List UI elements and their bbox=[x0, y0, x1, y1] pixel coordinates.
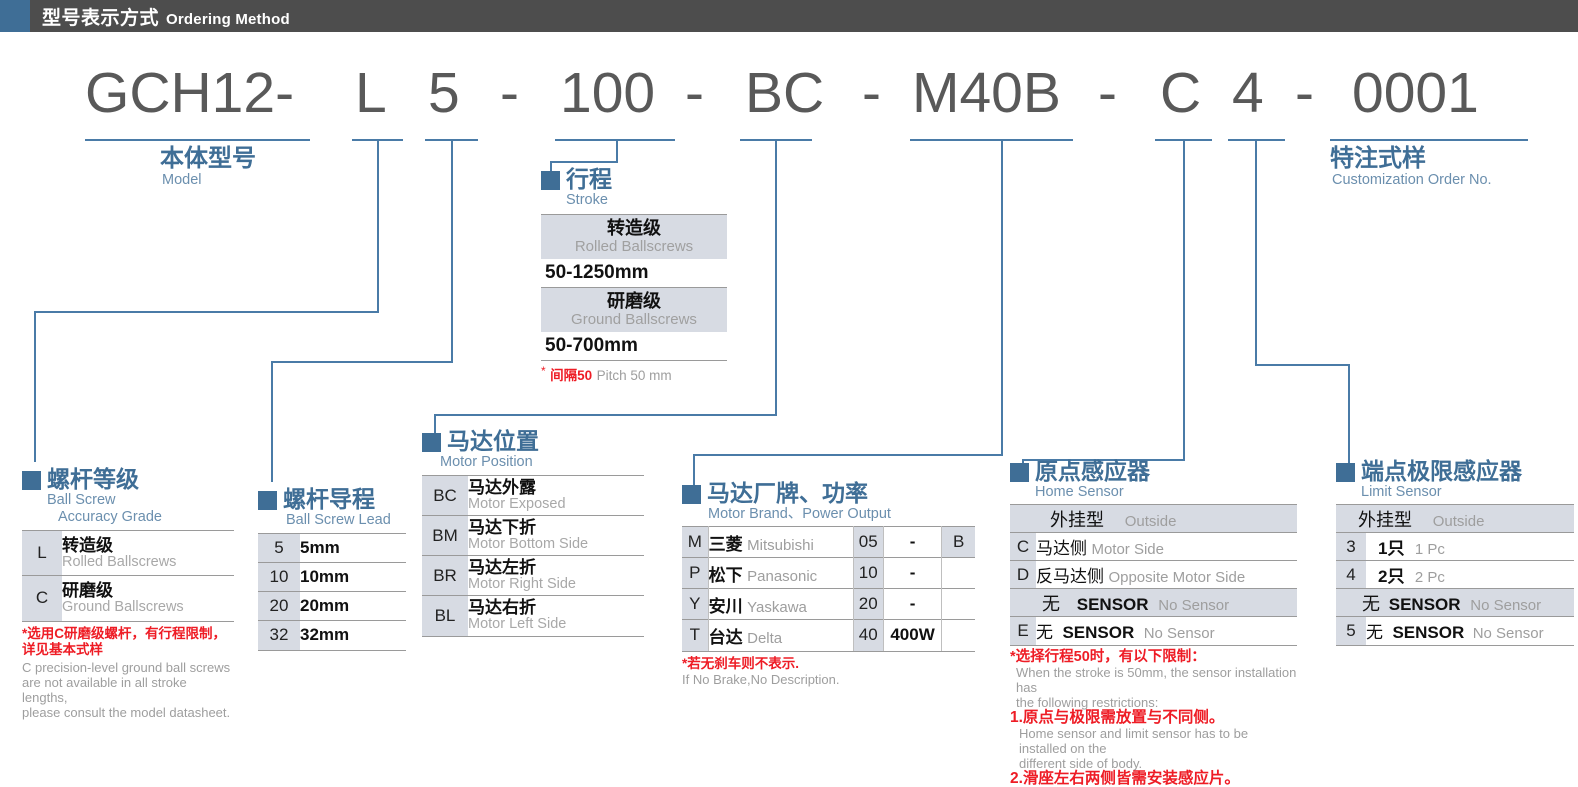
code-dash-5: - bbox=[1295, 58, 1314, 128]
section-stroke-head: 行程 bbox=[541, 166, 729, 192]
home-sensor-note-title: *选择行程50时，有以下限制： bbox=[1010, 649, 1297, 665]
home-sensor-val-e: 无 SENSOR No Sensor bbox=[1036, 617, 1297, 645]
code-lead: 5 bbox=[428, 58, 460, 128]
accuracy-note-gray-3: please consult the model datasheet. bbox=[22, 705, 234, 720]
table-row: 5 无 SENSOR No Sensor bbox=[1336, 617, 1574, 645]
accuracy-note-red-1: *选用C研磨级螺杆，有行程限制， bbox=[22, 626, 234, 642]
home-sensor-val-c: 马达侧 Motor Side bbox=[1036, 533, 1297, 561]
accuracy-val-c-cn: 研磨级 bbox=[62, 582, 234, 599]
limit-sensor-val-5: 无 SENSOR No Sensor bbox=[1366, 617, 1574, 645]
limit-sensor-val-4-cn: 2只 bbox=[1378, 567, 1404, 586]
power-val-05: - bbox=[883, 527, 941, 558]
home-sensor-note-gray-1b: the following restrictions: bbox=[1010, 695, 1297, 710]
motor-brand-note-red: *若无刹车则不表示. bbox=[682, 656, 975, 672]
leader-motor-brand bbox=[694, 140, 1002, 490]
home-sensor-val-e-cn: 无 bbox=[1036, 623, 1053, 642]
lead-table-bottom-rule bbox=[258, 650, 406, 651]
home-sensor-val-d: 反马达侧 Opposite Motor Side bbox=[1036, 561, 1297, 589]
section-limit-sensor: 端点极限感应器 Limit Sensor 外挂型 Outside 3 1只 1 … bbox=[1336, 458, 1578, 646]
limit-sensor-table: 外挂型 Outside 3 1只 1 Pc 4 2只 2 Pc 无 SENSOR… bbox=[1336, 504, 1574, 645]
section-stroke-title-cn: 行程 bbox=[566, 166, 612, 192]
section-ball-screw-lead: 螺杆导程 Ball Screw Lead 5 5mm 10 10mm 20 20… bbox=[258, 486, 418, 651]
section-limit-sensor-head: 端点极限感应器 bbox=[1336, 458, 1578, 484]
motor-position-val-bm: 马达下折 Motor Bottom Side bbox=[468, 516, 644, 556]
power-code-05: 05 bbox=[853, 527, 883, 558]
code-custom: 0001 bbox=[1352, 58, 1479, 128]
accuracy-key-l: L bbox=[22, 531, 62, 576]
home-sensor-key-e: E bbox=[1010, 617, 1036, 645]
power-val-40: 400W bbox=[883, 620, 941, 651]
brand-name-y-en: Yaskawa bbox=[747, 599, 807, 616]
home-sensor-band-2-bold: SENSOR bbox=[1077, 595, 1149, 614]
lead-val-5: 5mm bbox=[300, 534, 406, 563]
power-val-10: - bbox=[883, 558, 941, 589]
limit-sensor-val-5-cn: 无 bbox=[1366, 623, 1383, 642]
table-row: 3 1只 1 Pc bbox=[1336, 533, 1574, 561]
stroke-value-rolled: 50-1250mm bbox=[541, 259, 727, 287]
section-custom-title-cn: 特注式样 bbox=[1330, 146, 1492, 172]
home-sensor-band-1-en: Outside bbox=[1125, 513, 1177, 530]
home-sensor-band-2-cn: 无 bbox=[1042, 594, 1060, 614]
code-dash-4: - bbox=[1098, 58, 1117, 128]
section-limit-sensor-title-cn: 端点极限感应器 bbox=[1361, 458, 1522, 484]
stroke-band-ground-cn: 研磨级 bbox=[551, 291, 717, 311]
code-motor-brand: M40B bbox=[912, 58, 1061, 128]
section-accuracy-title-cn: 螺杆等级 bbox=[47, 466, 139, 492]
limit-sensor-band-2: 无 SENSOR No Sensor bbox=[1336, 589, 1574, 617]
motor-position-key-bm: BM bbox=[422, 516, 468, 556]
table-row: BM 马达下折 Motor Bottom Side bbox=[422, 516, 644, 556]
limit-sensor-band-1-cn: 外挂型 bbox=[1358, 510, 1412, 530]
limit-sensor-band-outside: 外挂型 Outside bbox=[1336, 505, 1574, 533]
home-sensor-val-d-en: Opposite Motor Side bbox=[1108, 569, 1245, 586]
home-sensor-val-e-bold: SENSOR bbox=[1062, 623, 1134, 642]
limit-sensor-key-3: 3 bbox=[1336, 533, 1366, 561]
motor-position-key-bc: BC bbox=[422, 476, 468, 516]
power-code-10: 10 bbox=[853, 558, 883, 589]
home-sensor-val-c-en: Motor Side bbox=[1091, 541, 1164, 558]
section-motor-brand-title-cn: 马达厂牌、功率 bbox=[707, 480, 868, 506]
motor-brand-note-gray: If No Brake,No Description. bbox=[682, 672, 975, 687]
table-row: BC 马达外露 Motor Exposed bbox=[422, 476, 644, 516]
table-row: 10 10mm bbox=[258, 563, 406, 592]
table-row: 20 20mm bbox=[258, 592, 406, 621]
power-val-20: - bbox=[883, 589, 941, 620]
brand-key-t: T bbox=[682, 620, 708, 651]
brand-name-p-en: Panasonic bbox=[747, 568, 817, 585]
brake-code-b: B bbox=[942, 527, 975, 558]
brand-key-p: P bbox=[682, 558, 708, 589]
motor-position-val-bl: 马达右折 Motor Left Side bbox=[468, 596, 644, 636]
brake-cell-empty-1 bbox=[942, 558, 975, 589]
table-row: BR 马达左折 Motor Right Side bbox=[422, 556, 644, 596]
accuracy-val-l: 转造级 Rolled Ballscrews bbox=[62, 531, 234, 576]
stroke-band-ground-en: Ground Ballscrews bbox=[551, 311, 717, 328]
home-sensor-band-2: 无 SENSOR No Sensor bbox=[1010, 589, 1297, 617]
limit-sensor-val-5-bold: SENSOR bbox=[1392, 623, 1464, 642]
motor-position-val-bc-en: Motor Exposed bbox=[468, 496, 644, 512]
limit-sensor-band-no-sensor: 无 SENSOR No Sensor bbox=[1336, 589, 1574, 617]
motor-position-val-br-cn: 马达左折 bbox=[468, 559, 644, 576]
section-motor-brand-title-en: Motor Brand、Power Output bbox=[682, 506, 982, 523]
stroke-band-rolled-en: Rolled Ballscrews bbox=[551, 238, 717, 255]
accuracy-key-c: C bbox=[22, 576, 62, 621]
brand-name-m-cn: 三菱 bbox=[709, 535, 743, 554]
home-sensor-band-no-sensor: 无 SENSOR No Sensor bbox=[1010, 589, 1297, 617]
accuracy-notes: *选用C研磨级螺杆，有行程限制， 详见基本式样 C precision-leve… bbox=[22, 621, 234, 720]
brake-cell-empty-2 bbox=[942, 589, 975, 620]
motor-position-val-bm-cn: 马达下折 bbox=[468, 519, 644, 536]
table-row: E 无 SENSOR No Sensor bbox=[1010, 617, 1297, 645]
motor-position-val-br: 马达左折 Motor Right Side bbox=[468, 556, 644, 596]
bullet-square-icon bbox=[258, 491, 277, 510]
home-sensor-note-gray-2b: different side of body. bbox=[1010, 756, 1297, 771]
section-accuracy-title-en1: Ball Screw bbox=[22, 492, 262, 509]
limit-sensor-band-2-bold: SENSOR bbox=[1389, 595, 1461, 614]
home-sensor-band-2-en: No Sensor bbox=[1158, 597, 1229, 614]
section-motor-brand: 马达厂牌、功率 Motor Brand、Power Output M 三菱 Mi… bbox=[682, 480, 982, 687]
motor-position-val-bl-cn: 马达右折 bbox=[468, 599, 644, 616]
power-code-40: 40 bbox=[853, 620, 883, 651]
home-sensor-key-c: C bbox=[1010, 533, 1036, 561]
section-motor-position-head: 马达位置 bbox=[422, 428, 662, 454]
motor-position-key-bl: BL bbox=[422, 596, 468, 636]
home-sensor-key-d: D bbox=[1010, 561, 1036, 589]
table-row: P 松下 Panasonic 10 - bbox=[682, 558, 975, 589]
code-home-sensor: C bbox=[1160, 58, 1201, 128]
limit-sensor-key-4: 4 bbox=[1336, 561, 1366, 589]
section-home-sensor-head: 原点感应器 bbox=[1010, 458, 1302, 484]
code-grade: L bbox=[355, 58, 387, 128]
lead-val-20: 20mm bbox=[300, 592, 406, 621]
home-sensor-note-red-1: 1.原点与极限需放置与不同侧。 bbox=[1010, 710, 1297, 726]
accuracy-val-l-en: Rolled Ballscrews bbox=[62, 554, 234, 570]
section-custom-title-en: Customization Order No. bbox=[1330, 172, 1492, 189]
home-sensor-note-gray-1a: When the stroke is 50mm, the sensor inst… bbox=[1010, 665, 1297, 695]
section-motor-brand-head: 马达厂牌、功率 bbox=[682, 480, 982, 506]
header-accent-tab bbox=[0, 0, 30, 32]
section-lead-head: 螺杆导程 bbox=[258, 486, 418, 512]
limit-sensor-val-3: 1只 1 Pc bbox=[1366, 533, 1574, 561]
brand-name-t-cn: 台达 bbox=[709, 628, 743, 647]
table-row: 32 32mm bbox=[258, 621, 406, 650]
brand-key-y: Y bbox=[682, 589, 708, 620]
brand-name-m-en: Mitsubishi bbox=[747, 537, 814, 554]
section-limit-sensor-title-en: Limit Sensor bbox=[1336, 484, 1578, 501]
limit-sensor-val-3-cn: 1只 bbox=[1378, 539, 1404, 558]
brand-name-p: 松下 Panasonic bbox=[708, 558, 853, 589]
motor-position-val-bc: 马达外露 Motor Exposed bbox=[468, 476, 644, 516]
table-row: Y 安川 Yaskawa 20 - bbox=[682, 589, 975, 620]
page-title-en: Ordering Method bbox=[166, 11, 290, 28]
home-sensor-notes: *选择行程50时，有以下限制： When the stroke is 50mm,… bbox=[1010, 645, 1297, 787]
section-accuracy-grade: 螺杆等级 Ball Screw Accuracy Grade L 转造级 Rol… bbox=[22, 466, 262, 720]
lead-key-10: 10 bbox=[258, 563, 300, 592]
code-limit-sensor: 4 bbox=[1232, 58, 1264, 128]
brand-name-y-cn: 安川 bbox=[709, 597, 743, 616]
table-row: L 转造级 Rolled Ballscrews bbox=[22, 531, 234, 576]
section-motor-position: 马达位置 Motor Position BC 马达外露 Motor Expose… bbox=[422, 428, 662, 637]
brake-cell-empty-3 bbox=[942, 620, 975, 651]
section-model-title-en: Model bbox=[160, 172, 256, 189]
stroke-band-rolled: 转造级 Rolled Ballscrews bbox=[541, 214, 727, 259]
leader-limit-sensor bbox=[1256, 140, 1349, 468]
lead-key-32: 32 bbox=[258, 621, 300, 650]
bullet-square-icon bbox=[22, 471, 41, 490]
lead-table: 5 5mm 10 10mm 20 20mm 32 32mm bbox=[258, 533, 406, 650]
bullet-square-icon bbox=[541, 171, 560, 190]
brand-name-m: 三菱 Mitsubishi bbox=[708, 527, 853, 558]
section-customization: 特注式样 Customization Order No. bbox=[1330, 146, 1492, 189]
limit-sensor-val-4: 2只 2 Pc bbox=[1366, 561, 1574, 589]
code-dash-2: - bbox=[685, 58, 704, 128]
accuracy-table: L 转造级 Rolled Ballscrews C 研磨级 Ground Bal… bbox=[22, 530, 234, 621]
home-sensor-table: 外挂型 Outside C 马达侧 Motor Side D 反马达侧 Oppo… bbox=[1010, 504, 1297, 645]
motor-brand-notes: *若无刹车则不表示. If No Brake,No Description. bbox=[682, 651, 975, 687]
accuracy-val-c-en: Ground Ballscrews bbox=[62, 599, 234, 615]
home-sensor-note-gray-2a: Home sensor and limit sensor has to be i… bbox=[1010, 726, 1297, 756]
motor-position-val-bc-cn: 马达外露 bbox=[468, 479, 644, 496]
table-row: D 反马达侧 Opposite Motor Side bbox=[1010, 561, 1297, 589]
section-accuracy-title-en2: Accuracy Grade bbox=[22, 509, 262, 526]
brand-name-p-cn: 松下 bbox=[709, 566, 743, 585]
limit-sensor-val-4-en: 2 Pc bbox=[1415, 569, 1445, 586]
section-lead-title-cn: 螺杆导程 bbox=[283, 486, 375, 512]
motor-position-bottom-rule bbox=[422, 636, 644, 637]
table-row: T 台达 Delta 40 400W bbox=[682, 620, 975, 651]
model-code-line: GCH12- L 5 - 100 - BC - M40B - C 4 - 000… bbox=[0, 58, 1578, 128]
section-lead-title-en: Ball Screw Lead bbox=[258, 512, 418, 529]
brand-name-t: 台达 Delta bbox=[708, 620, 853, 651]
section-accuracy-head: 螺杆等级 bbox=[22, 466, 262, 492]
lead-key-5: 5 bbox=[258, 534, 300, 563]
accuracy-note-gray-2: are not available in all stroke lengths, bbox=[22, 675, 234, 705]
home-sensor-val-e-en: No Sensor bbox=[1144, 625, 1215, 642]
code-dash-1: - bbox=[500, 58, 519, 128]
lead-val-32: 32mm bbox=[300, 621, 406, 650]
table-row: 4 2只 2 Pc bbox=[1336, 561, 1574, 589]
stroke-band-ground: 研磨级 Ground Ballscrews bbox=[541, 287, 727, 332]
lead-key-20: 20 bbox=[258, 592, 300, 621]
section-model-title-cn: 本体型号 bbox=[160, 146, 256, 172]
bullet-square-icon bbox=[1010, 463, 1029, 482]
table-row: BL 马达右折 Motor Left Side bbox=[422, 596, 644, 636]
brand-name-t-en: Delta bbox=[747, 630, 782, 647]
code-model: GCH12- bbox=[85, 58, 294, 128]
section-home-sensor: 原点感应器 Home Sensor 外挂型 Outside C 马达侧 Moto… bbox=[1010, 458, 1302, 787]
accuracy-val-c: 研磨级 Ground Ballscrews bbox=[62, 576, 234, 621]
brand-name-y: 安川 Yaskawa bbox=[708, 589, 853, 620]
stroke-note-star: * bbox=[541, 364, 546, 378]
limit-sensor-val-3-en: 1 Pc bbox=[1415, 541, 1445, 558]
accuracy-note-gray-1: C precision-level ground ball screws bbox=[22, 660, 234, 675]
home-sensor-band-outside: 外挂型 Outside bbox=[1010, 505, 1297, 533]
bullet-square-icon bbox=[1336, 463, 1355, 482]
section-model: 本体型号 Model bbox=[160, 146, 256, 189]
code-dash-3: - bbox=[862, 58, 881, 128]
motor-position-table: BC 马达外露 Motor Exposed BM 马达下折 Motor Bott… bbox=[422, 475, 644, 636]
bullet-square-icon bbox=[682, 485, 701, 504]
motor-position-val-br-en: Motor Right Side bbox=[468, 576, 644, 592]
accuracy-note-red-2: 详见基本式样 bbox=[22, 642, 234, 658]
stroke-note-cn: 间隔50 bbox=[550, 368, 592, 383]
stroke-value-ground: 50-700mm bbox=[541, 332, 727, 360]
header-title-wrap: 型号表示方式 Ordering Method bbox=[30, 3, 290, 30]
section-stroke-title-en: Stroke bbox=[541, 192, 729, 209]
lead-val-10: 10mm bbox=[300, 563, 406, 592]
table-row: 5 5mm bbox=[258, 534, 406, 563]
stroke-band-rolled-cn: 转造级 bbox=[551, 218, 717, 238]
code-stroke: 100 bbox=[560, 58, 655, 128]
stroke-note-en: Pitch 50 mm bbox=[597, 368, 672, 383]
motor-position-val-bl-en: Motor Left Side bbox=[468, 616, 644, 632]
stroke-table: 转造级 Rolled Ballscrews 50-1250mm 研磨级 Grou… bbox=[541, 214, 727, 385]
limit-sensor-band-2-cn: 无 bbox=[1362, 594, 1380, 614]
motor-position-key-br: BR bbox=[422, 556, 468, 596]
brand-key-m: M bbox=[682, 527, 708, 558]
motor-position-val-bm-en: Motor Bottom Side bbox=[468, 536, 644, 552]
home-sensor-val-c-cn: 马达侧 bbox=[1036, 539, 1087, 558]
power-code-20: 20 bbox=[853, 589, 883, 620]
limit-sensor-band-1: 外挂型 Outside bbox=[1336, 505, 1574, 533]
limit-sensor-val-5-en: No Sensor bbox=[1473, 625, 1544, 642]
code-motor-position: BC bbox=[745, 58, 824, 128]
section-home-sensor-title-cn: 原点感应器 bbox=[1035, 458, 1150, 484]
limit-sensor-band-2-en: No Sensor bbox=[1470, 597, 1541, 614]
home-sensor-band-1: 外挂型 Outside bbox=[1010, 505, 1297, 533]
page-header: 型号表示方式 Ordering Method bbox=[0, 0, 1578, 32]
limit-sensor-band-1-en: Outside bbox=[1433, 513, 1485, 530]
leader-home-sensor bbox=[1023, 140, 1184, 468]
section-motor-position-title-cn: 马达位置 bbox=[447, 428, 539, 454]
bullet-square-icon bbox=[422, 433, 441, 452]
section-motor-position-title-en: Motor Position bbox=[422, 454, 662, 471]
table-row: C 马达侧 Motor Side bbox=[1010, 533, 1297, 561]
home-sensor-band-1-cn: 外挂型 bbox=[1050, 510, 1104, 530]
stroke-note: * 间隔50 Pitch 50 mm bbox=[541, 360, 727, 385]
limit-sensor-key-5: 5 bbox=[1336, 617, 1366, 645]
section-stroke: 行程 Stroke 转造级 Rolled Ballscrews 50-1250m… bbox=[541, 166, 729, 385]
page-title-cn: 型号表示方式 bbox=[42, 3, 159, 30]
table-row: C 研磨级 Ground Ballscrews bbox=[22, 576, 234, 621]
home-sensor-note-red-2: 2.滑座左右两侧皆需安装感应片。 bbox=[1010, 771, 1297, 787]
motor-brand-table: M 三菱 Mitsubishi 05 - B P 松下 Panasonic 10… bbox=[682, 526, 975, 651]
home-sensor-val-d-cn: 反马达侧 bbox=[1036, 567, 1104, 586]
accuracy-val-l-cn: 转造级 bbox=[62, 537, 234, 554]
table-row: M 三菱 Mitsubishi 05 - B bbox=[682, 527, 975, 558]
limit-sensor-bottom-rule bbox=[1336, 645, 1574, 646]
section-home-sensor-title-en: Home Sensor bbox=[1010, 484, 1302, 501]
